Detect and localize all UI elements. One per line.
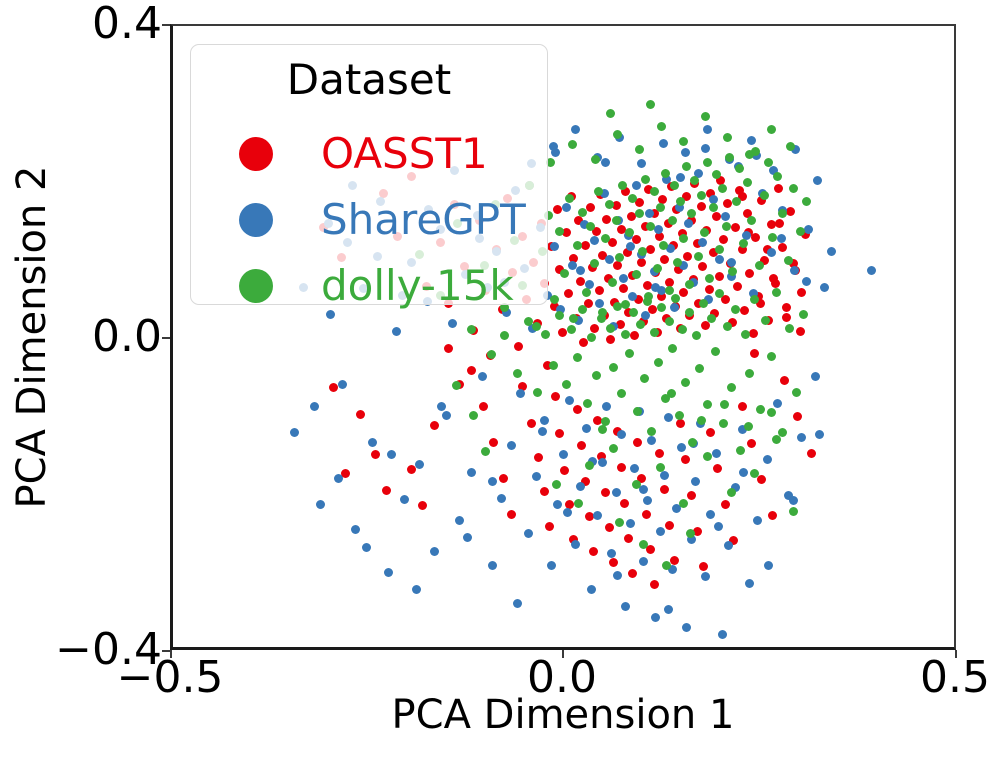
scatter-point (670, 556, 679, 565)
scatter-point (418, 501, 427, 510)
scatter-point (706, 510, 715, 519)
scatter-point (384, 568, 393, 577)
scatter-point (681, 148, 690, 157)
scatter-point (560, 269, 569, 278)
scatter-point (651, 613, 660, 622)
scatter-point (642, 510, 651, 519)
scatter-point (782, 313, 791, 322)
scatter-point (463, 533, 472, 542)
scatter-point (412, 585, 421, 594)
scatter-point (681, 455, 690, 464)
scatter-point (745, 579, 754, 588)
scatter-point (621, 330, 630, 339)
scatter-point (400, 495, 409, 504)
scatter-point (695, 364, 704, 373)
scatter-point (740, 306, 749, 315)
scatter-point (540, 487, 549, 496)
scatter-point (659, 139, 668, 148)
scatter-point (682, 162, 691, 171)
scatter-point (620, 499, 629, 508)
scatter-point (747, 136, 756, 145)
scatter-point (736, 446, 745, 455)
scatter-point (555, 429, 564, 438)
scatter-point (659, 241, 668, 250)
scatter-point (639, 540, 648, 549)
scatter-point (797, 433, 806, 442)
scatter-point (489, 438, 498, 447)
y-axis-label: PCA Dimension 2 (9, 127, 55, 547)
scatter-point (573, 241, 582, 250)
scatter-point (553, 205, 562, 214)
scatter-point (549, 142, 558, 151)
scatter-point (564, 289, 573, 298)
scatter-point (712, 170, 721, 179)
scatter-point (613, 571, 622, 580)
scatter-point (630, 464, 639, 473)
scatter-point (578, 305, 587, 314)
scatter-point (700, 228, 709, 237)
scatter-point (455, 516, 464, 525)
scatter-point (796, 227, 805, 236)
legend-entry-oasst1[interactable]: OASST1 (191, 123, 547, 185)
scatter-point (732, 197, 741, 206)
scatter-point (579, 338, 588, 347)
scatter-point (590, 259, 599, 268)
scatter-point (782, 303, 791, 312)
scatter-point (371, 450, 380, 459)
scatter-point (641, 175, 650, 184)
scatter-point (633, 438, 642, 447)
scatter-point (581, 241, 590, 250)
scatter-point (684, 219, 693, 228)
scatter-point (743, 178, 752, 187)
scatter-point (682, 623, 691, 632)
scatter-point (619, 274, 628, 283)
scatter-point (679, 499, 688, 508)
scatter-point (792, 388, 801, 397)
scatter-point (676, 173, 685, 182)
scatter-point (605, 523, 614, 532)
scatter-point (538, 427, 547, 436)
scatter-point (643, 496, 652, 505)
scatter-point (633, 407, 642, 416)
scatter-point (676, 419, 685, 428)
scatter-point (670, 303, 679, 312)
scatter-point (657, 122, 666, 131)
scatter-point (613, 302, 622, 311)
scatter-point (719, 235, 728, 244)
scatter-point (590, 236, 599, 245)
scatter-point (701, 321, 710, 330)
scatter-point (574, 499, 583, 508)
scatter-point (646, 245, 655, 254)
scatter-point (661, 169, 670, 178)
scatter-point (478, 372, 487, 381)
scatter-point (626, 242, 635, 251)
scatter-point (577, 441, 586, 450)
scatter-point (565, 396, 574, 405)
scatter-point (774, 184, 783, 193)
scatter-point (723, 133, 732, 142)
y-tick-mark-1 (162, 337, 170, 339)
scatter-point (430, 547, 439, 556)
scatter-point (773, 399, 782, 408)
scatter-point (756, 405, 765, 414)
scatter-point (351, 525, 360, 534)
legend-label-sharegpt: ShareGPT (321, 199, 526, 241)
scatter-point (780, 376, 789, 385)
scatter-point (507, 510, 516, 519)
scatter-point (679, 137, 688, 146)
scatter-point (448, 319, 457, 328)
scatter-point (747, 216, 756, 225)
scatter-point (576, 266, 585, 275)
scatter-point (738, 402, 747, 411)
x-tick-mark-1 (562, 650, 564, 658)
scatter-point (813, 176, 822, 185)
scatter-point (699, 562, 708, 571)
y-tick-label-0: 0.4 (92, 2, 162, 46)
scatter-point (656, 527, 665, 536)
scatter-point (735, 164, 744, 173)
scatter-point (797, 288, 806, 297)
scatter-point (605, 255, 614, 264)
scatter-point (625, 349, 634, 358)
scatter-point (731, 223, 740, 232)
scatter-point (639, 557, 648, 566)
scatter-point (632, 270, 641, 279)
scatter-point (820, 283, 829, 292)
scatter-point (664, 605, 673, 614)
scatter-point (660, 471, 669, 480)
scatter-point (635, 209, 644, 218)
scatter-point (714, 522, 723, 531)
scatter-point (679, 234, 688, 243)
scatter-point (392, 327, 401, 336)
scatter-point (613, 261, 622, 270)
scatter-point (582, 424, 591, 433)
scatter-point (499, 474, 508, 483)
scatter-point (701, 144, 710, 153)
scatter-point (589, 547, 598, 556)
scatter-point (799, 310, 808, 319)
scatter-point (571, 125, 580, 134)
scatter-point (563, 508, 572, 517)
scatter-point (651, 283, 660, 292)
scatter-point (703, 158, 712, 167)
scatter-point (568, 140, 577, 149)
scatter-point (715, 272, 724, 281)
scatter-point (290, 428, 299, 437)
scatter-point (665, 521, 674, 530)
scatter-point (767, 125, 776, 134)
scatter-point (437, 402, 446, 411)
scatter-point (583, 399, 592, 408)
scatter-point (727, 383, 736, 392)
scatter-point (590, 324, 599, 333)
scatter-point (452, 381, 461, 390)
scatter-point (683, 252, 692, 261)
scatter-point (686, 529, 695, 538)
scatter-point (615, 253, 624, 262)
scatter-point (606, 335, 615, 344)
scatter-point (513, 599, 522, 608)
x-tick-mark-0 (170, 650, 172, 658)
scatter-point (665, 286, 674, 295)
scatter-point (744, 422, 753, 431)
legend-box[interactable]: Dataset OASST1 ShareGPT dolly-15k (190, 44, 548, 305)
scatter-point (540, 416, 549, 425)
scatter-point (761, 316, 770, 325)
scatter-point (679, 288, 688, 297)
scatter-point (713, 464, 722, 473)
scatter-point (559, 450, 568, 459)
scatter-point (617, 389, 626, 398)
scatter-point (681, 378, 690, 387)
scatter-point (601, 488, 610, 497)
scatter-point (587, 333, 596, 342)
scatter-point (698, 238, 707, 247)
scatter-point (549, 361, 558, 370)
scatter-point (617, 463, 626, 472)
scatter-point (701, 572, 710, 581)
scatter-point (585, 461, 594, 470)
scatter-point (668, 344, 677, 353)
scatter-point (703, 452, 712, 461)
scatter-point (725, 153, 734, 162)
scatter-point (778, 243, 787, 252)
scatter-point (715, 289, 724, 298)
scatter-point (550, 242, 559, 251)
scatter-point (660, 485, 669, 494)
scatter-point (553, 500, 562, 509)
scatter-point (675, 411, 684, 420)
scatter-point (692, 331, 701, 340)
scatter-point (513, 369, 522, 378)
scatter-point (719, 419, 728, 428)
scatter-point (621, 602, 630, 611)
scatter-point (609, 558, 618, 567)
scatter-point (668, 216, 677, 225)
scatter-point (576, 482, 585, 491)
scatter-point (767, 248, 776, 257)
scatter-point (772, 435, 781, 444)
scatter-point (660, 255, 669, 264)
scatter-point (602, 215, 611, 224)
scatter-point (545, 522, 554, 531)
scatter-point (612, 488, 621, 497)
legend-label-dolly: dolly-15k (321, 265, 514, 307)
scatter-point (576, 277, 585, 286)
x-tick-mark-2 (955, 650, 957, 658)
scatter-point (670, 181, 679, 190)
scatter-point (415, 460, 424, 469)
scatter-point (612, 216, 621, 225)
scatter-point (527, 419, 536, 428)
scatter-point (608, 278, 617, 287)
scatter-point (602, 402, 611, 411)
scatter-point (665, 317, 674, 326)
scatter-point (481, 447, 490, 456)
scatter-point (739, 468, 748, 477)
scatter-point (691, 477, 700, 486)
scatter-point (706, 428, 715, 437)
scatter-point (790, 266, 799, 275)
scatter-point (595, 286, 604, 295)
scatter-point (605, 200, 614, 209)
scatter-point (629, 308, 638, 317)
scatter-point (657, 303, 666, 312)
scatter-point (667, 389, 676, 398)
scatter-point (356, 410, 365, 419)
scatter-point (593, 511, 602, 520)
scatter-point (723, 199, 732, 208)
scatter-point (571, 540, 580, 549)
scatter-point (442, 411, 451, 420)
scatter-point (709, 203, 718, 212)
legend-title: Dataset (191, 57, 547, 103)
scatter-point (586, 222, 595, 231)
scatter-point (745, 369, 754, 378)
scatter-point (789, 184, 798, 193)
scatter-point (606, 109, 615, 118)
scatter-point (628, 569, 637, 578)
scatter-point (362, 543, 371, 552)
scatter-point (578, 208, 587, 217)
scatter-point (609, 444, 618, 453)
scatter-point (796, 327, 805, 336)
scatter-point (655, 449, 664, 458)
scatter-point (807, 449, 816, 458)
scatter-point (721, 500, 730, 509)
scatter-point (697, 202, 706, 211)
scatter-point (705, 274, 714, 283)
scatter-point (430, 421, 439, 430)
scatter-point (641, 311, 650, 320)
scatter-point (705, 285, 714, 294)
scatter-point (802, 197, 811, 206)
scatter-point (444, 344, 453, 353)
scatter-point (745, 269, 754, 278)
scatter-point (626, 519, 635, 528)
scatter-point (646, 100, 655, 109)
scatter-point (582, 288, 591, 297)
scatter-point (647, 436, 656, 445)
scatter-point (789, 496, 798, 505)
scatter-point (601, 158, 610, 167)
scatter-point (673, 258, 682, 267)
scatter-point (573, 353, 582, 362)
scatter-point (656, 463, 665, 472)
scatter-point (694, 252, 703, 261)
legend-swatch-dolly (239, 269, 273, 303)
scatter-point (789, 507, 798, 516)
x-axis-label: PCA Dimension 1 (170, 692, 956, 738)
scatter-point (573, 405, 582, 414)
scatter-point (685, 308, 694, 317)
scatter-point (767, 408, 776, 417)
scatter-point (750, 349, 759, 358)
scatter-point (609, 363, 618, 372)
scatter-point (617, 430, 626, 439)
scatter-point (487, 350, 496, 359)
scatter-point (688, 438, 697, 447)
scatter-point (637, 258, 646, 267)
scatter-point (628, 194, 637, 203)
scatter-point (701, 112, 710, 121)
scatter-point (467, 468, 476, 477)
scatter-point (653, 264, 662, 273)
scatter-point (555, 227, 564, 236)
scatter-point (815, 430, 824, 439)
scatter-point (567, 325, 576, 334)
scatter-point (524, 529, 533, 538)
scatter-point (382, 486, 391, 495)
scatter-point (338, 380, 347, 389)
scatter-point (712, 212, 721, 221)
scatter-point (811, 372, 820, 381)
scatter-point (753, 516, 762, 525)
scatter-point (624, 534, 633, 543)
scatter-point (767, 352, 776, 361)
legend-swatch-sharegpt (239, 203, 273, 237)
legend-entry-sharegpt[interactable]: ShareGPT (191, 189, 547, 251)
scatter-point (764, 158, 773, 167)
scatter-point (387, 450, 396, 459)
scatter-point (802, 277, 811, 286)
scatter-point (720, 400, 729, 409)
scatter-point (507, 441, 516, 450)
scatter-point (552, 480, 561, 489)
scatter-point (514, 342, 523, 351)
scatter-point (368, 438, 377, 447)
scatter-point (755, 261, 764, 270)
scatter-point (607, 549, 616, 558)
scatter-point (488, 477, 497, 486)
scatter-point (721, 212, 730, 221)
scatter-point (532, 322, 541, 331)
scatter-point (469, 411, 478, 420)
scatter-point (597, 314, 606, 323)
scatter-point (587, 585, 596, 594)
scatter-point (778, 209, 787, 218)
legend-entry-dolly[interactable]: dolly-15k (191, 255, 547, 317)
scatter-point (741, 330, 750, 339)
scatter-point (329, 383, 338, 392)
scatter-point (598, 425, 607, 434)
scatter-point (656, 203, 665, 212)
scatter-point (724, 541, 733, 550)
scatter-point (551, 392, 560, 401)
scatter-point (488, 561, 497, 570)
scatter-point (763, 455, 772, 464)
scatter-point (615, 518, 624, 527)
scatter-point (685, 280, 694, 289)
scatter-point (654, 358, 663, 367)
scatter-point (722, 222, 731, 231)
scatter-point (664, 413, 673, 422)
scatter-point (595, 299, 604, 308)
scatter-point (497, 494, 506, 503)
scatter-point (747, 439, 756, 448)
scatter-point (637, 159, 646, 168)
scatter-point (867, 266, 876, 275)
scatter-point (516, 389, 525, 398)
scatter-point (697, 191, 706, 200)
scatter-point (598, 458, 607, 467)
scatter-point (739, 239, 748, 248)
scatter-point (632, 181, 641, 190)
